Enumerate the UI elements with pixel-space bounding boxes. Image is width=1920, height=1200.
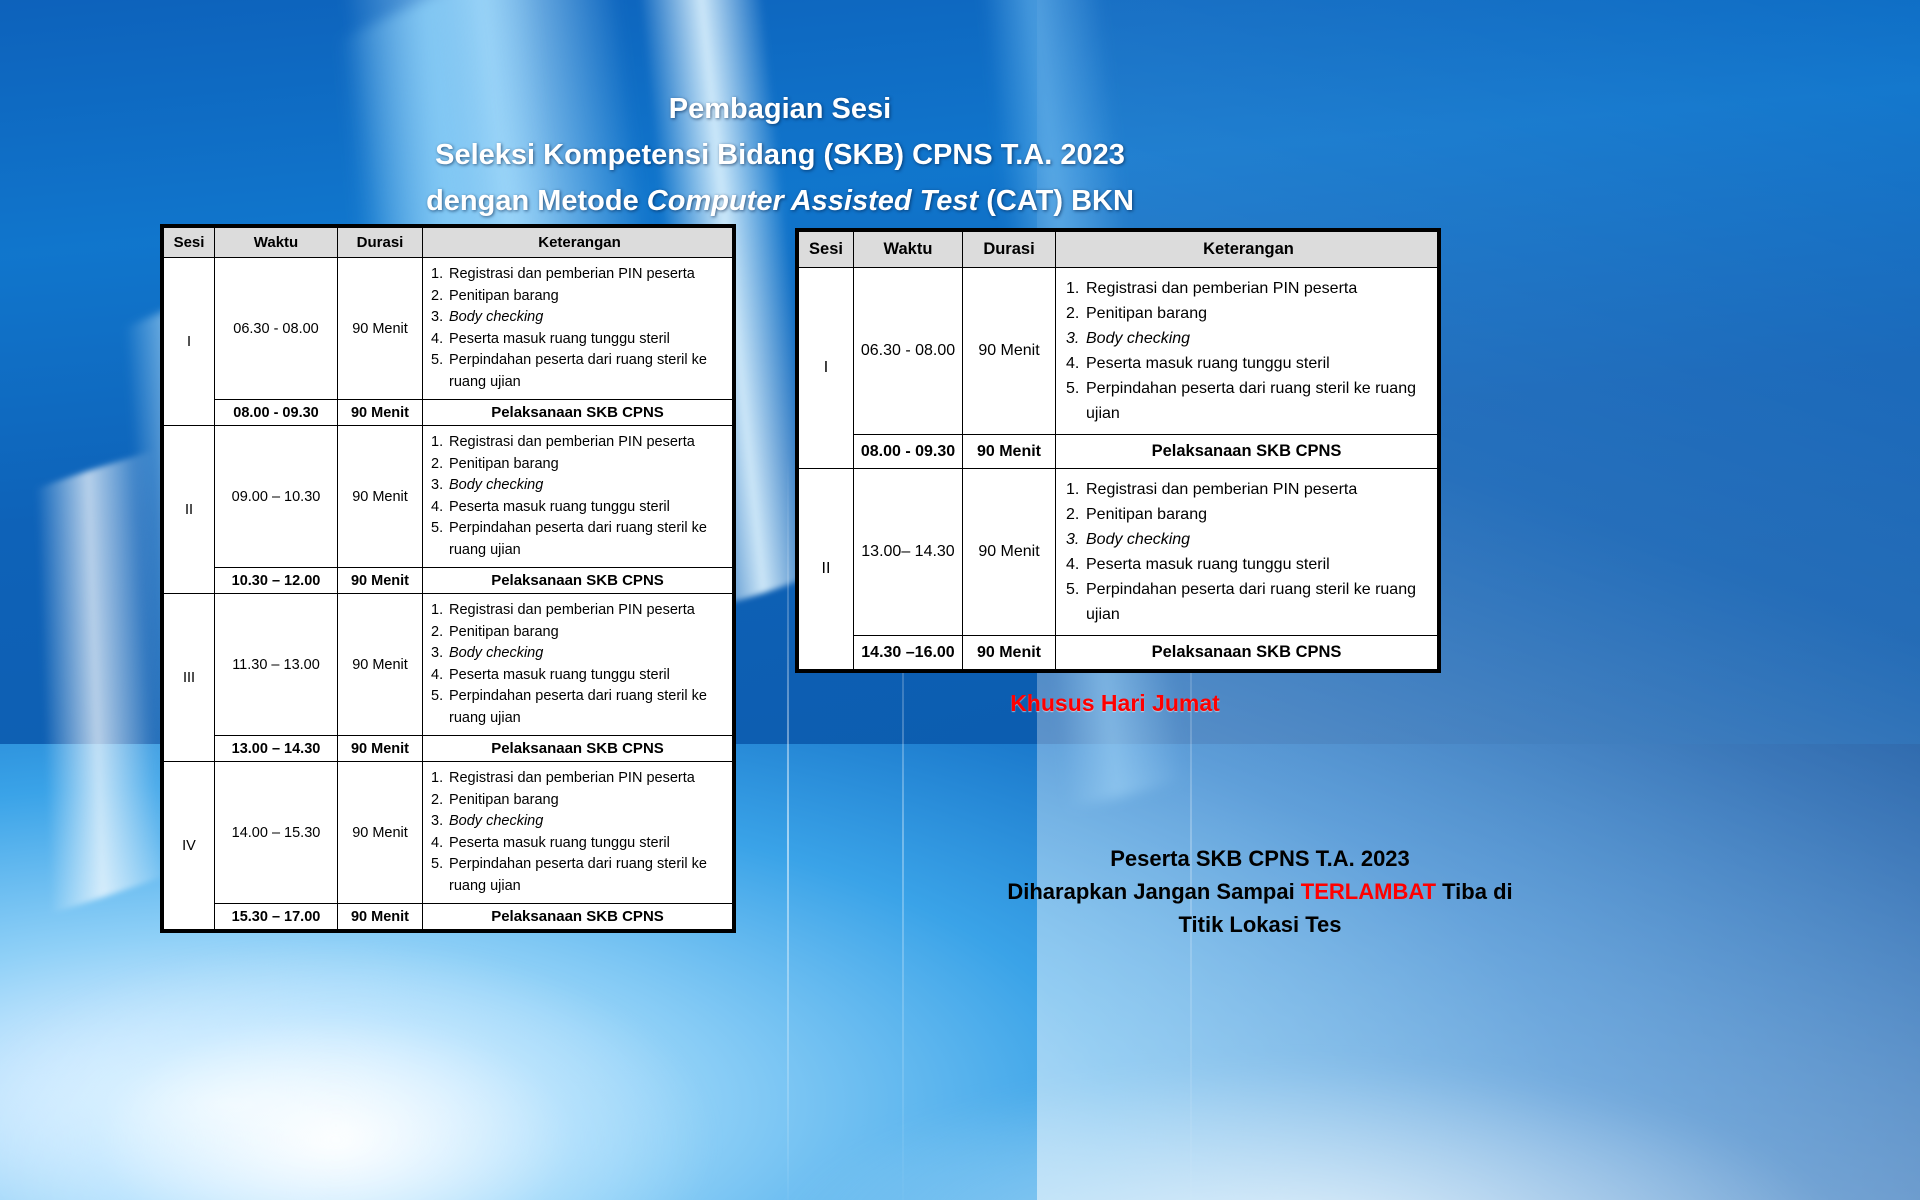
list-item: 3.Body checking xyxy=(1066,326,1431,351)
list-item: 2.Penitipan barang xyxy=(431,622,728,644)
list-number: 5. xyxy=(431,518,449,540)
list-number: 1. xyxy=(431,600,449,622)
table-body: I 06.30 - 08.00 90 Menit 1.Registrasi da… xyxy=(164,258,733,930)
cell-keterangan-prep: 1.Registrasi dan pemberian PIN peserta 2… xyxy=(423,762,733,904)
list-number: 3. xyxy=(1066,527,1086,552)
list-number: 2. xyxy=(431,622,449,644)
cell-pelaksanaan: Pelaksanaan SKB CPNS xyxy=(1056,435,1438,469)
cell-durasi-exam: 90 Menit xyxy=(338,400,423,426)
list-number: 4. xyxy=(1066,351,1086,376)
table-head: Sesi Waktu Durasi Keterangan xyxy=(164,228,733,258)
list-item: 1.Registrasi dan pemberian PIN peserta xyxy=(431,432,728,454)
list-item: 4.Peserta masuk ruang tunggu steril xyxy=(431,833,728,855)
list-item: 4.Peserta masuk ruang tunggu steril xyxy=(1066,351,1431,376)
list-item: 2.Penitipan barang xyxy=(1066,301,1431,326)
cell-waktu-exam: 14.30 –16.00 xyxy=(854,636,963,670)
title-line-3: dengan Metode Computer Assisted Test (CA… xyxy=(0,178,1560,224)
table-row: 08.00 - 09.30 90 Menit Pelaksanaan SKB C… xyxy=(799,435,1438,469)
list-item: 1.Registrasi dan pemberian PIN peserta xyxy=(431,264,728,286)
cell-durasi-exam: 90 Menit xyxy=(963,435,1056,469)
list-item: 4.Peserta masuk ruang tunggu steril xyxy=(431,329,728,351)
cell-keterangan-prep: 1.Registrasi dan pemberian PIN peserta 2… xyxy=(1056,469,1438,636)
list-item: 3.Body checking xyxy=(1066,527,1431,552)
list-item: 2.Penitipan barang xyxy=(431,286,728,308)
table-row: III 11.30 – 13.00 90 Menit 1.Registrasi … xyxy=(164,594,733,736)
list-text: Perpindahan peserta dari ruang steril ke… xyxy=(449,854,728,897)
list-item: 5.Perpindahan peserta dari ruang steril … xyxy=(431,518,728,561)
note-bottom-warning: Peserta SKB CPNS T.A. 2023 Diharapkan Ja… xyxy=(940,842,1580,941)
list-item: 5.Perpindahan peserta dari ruang steril … xyxy=(1066,376,1431,426)
cell-waktu-prep: 06.30 - 08.00 xyxy=(854,268,963,435)
list-text: Body checking xyxy=(449,307,728,329)
cell-durasi-prep: 90 Menit xyxy=(338,594,423,736)
title-line-3-prefix: dengan Metode xyxy=(426,185,647,217)
cell-durasi-exam: 90 Menit xyxy=(338,904,423,930)
cell-durasi-prep: 90 Menit xyxy=(963,268,1056,435)
list-number: 1. xyxy=(431,768,449,790)
cell-pelaksanaan: Pelaksanaan SKB CPNS xyxy=(1056,636,1438,670)
table-body: I 06.30 - 08.00 90 Menit 1.Registrasi da… xyxy=(799,268,1438,670)
title-line-2: Seleksi Kompetensi Bidang (SKB) CPNS T.A… xyxy=(0,132,1560,178)
title-line-3-italic: Computer Assisted Test xyxy=(647,185,978,217)
cell-pelaksanaan: Pelaksanaan SKB CPNS xyxy=(423,904,733,930)
list-text: Peserta masuk ruang tunggu steril xyxy=(449,833,728,855)
list-text: Penitipan barang xyxy=(1086,301,1431,326)
keterangan-list: 1.Registrasi dan pemberian PIN peserta 2… xyxy=(431,768,728,897)
cell-pelaksanaan: Pelaksanaan SKB CPNS xyxy=(423,736,733,762)
list-number: 4. xyxy=(431,665,449,687)
cell-sesi: IV xyxy=(164,762,215,930)
cell-sesi: III xyxy=(164,594,215,762)
list-item: 5.Perpindahan peserta dari ruang steril … xyxy=(1066,577,1431,627)
keterangan-list: 1.Registrasi dan pemberian PIN peserta 2… xyxy=(1066,276,1431,426)
list-number: 4. xyxy=(431,329,449,351)
list-text: Peserta masuk ruang tunggu steril xyxy=(449,497,728,519)
list-item: 3.Body checking xyxy=(431,811,728,833)
cell-keterangan-prep: 1.Registrasi dan pemberian PIN peserta 2… xyxy=(423,258,733,400)
list-text: Peserta masuk ruang tunggu steril xyxy=(1086,552,1431,577)
cell-sesi: I xyxy=(799,268,854,469)
list-number: 5. xyxy=(431,350,449,372)
list-item: 5.Perpindahan peserta dari ruang steril … xyxy=(431,350,728,393)
cell-pelaksanaan: Pelaksanaan SKB CPNS xyxy=(423,568,733,594)
cell-pelaksanaan: Pelaksanaan SKB CPNS xyxy=(423,400,733,426)
list-text: Penitipan barang xyxy=(449,286,728,308)
note-bottom-line-3: Titik Lokasi Tes xyxy=(940,908,1580,941)
list-number: 1. xyxy=(1066,477,1086,502)
list-text: Perpindahan peserta dari ruang steril ke… xyxy=(449,686,728,729)
cell-waktu-exam: 10.30 – 12.00 xyxy=(215,568,338,594)
note-bottom-line-2-prefix: Diharapkan Jangan Sampai xyxy=(1007,879,1300,904)
cell-waktu-prep: 13.00– 14.30 xyxy=(854,469,963,636)
cell-durasi-exam: 90 Menit xyxy=(338,568,423,594)
schedule-table-weekday: Sesi Waktu Durasi Keterangan I 06.30 - 0… xyxy=(160,224,736,933)
cell-sesi: II xyxy=(164,426,215,594)
list-text: Registrasi dan pemberian PIN peserta xyxy=(449,600,728,622)
column-header-sesi: Sesi xyxy=(799,232,854,268)
cell-durasi-prep: 90 Menit xyxy=(338,258,423,400)
keterangan-list: 1.Registrasi dan pemberian PIN peserta 2… xyxy=(1066,477,1431,627)
list-item: 1.Registrasi dan pemberian PIN peserta xyxy=(431,768,728,790)
list-text: Body checking xyxy=(1086,326,1431,351)
column-header-durasi: Durasi xyxy=(963,232,1056,268)
column-header-keterangan: Keterangan xyxy=(1056,232,1438,268)
list-text: Body checking xyxy=(1086,527,1431,552)
list-item: 2.Penitipan barang xyxy=(1066,502,1431,527)
cell-durasi-exam: 90 Menit xyxy=(963,636,1056,670)
list-item: 5.Perpindahan peserta dari ruang steril … xyxy=(431,854,728,897)
list-number: 2. xyxy=(431,790,449,812)
list-number: 5. xyxy=(1066,376,1086,401)
list-number: 3. xyxy=(431,811,449,833)
background-vertical-line-1 xyxy=(787,456,789,1200)
list-text: Body checking xyxy=(449,475,728,497)
list-text: Perpindahan peserta dari ruang steril ke… xyxy=(449,350,728,393)
title-line-3-suffix: (CAT) BKN xyxy=(978,185,1134,217)
cell-waktu-exam: 13.00 – 14.30 xyxy=(215,736,338,762)
column-header-waktu: Waktu xyxy=(215,228,338,258)
list-item: 4.Peserta masuk ruang tunggu steril xyxy=(431,497,728,519)
table-header-row: Sesi Waktu Durasi Keterangan xyxy=(164,228,733,258)
cell-waktu-exam: 08.00 - 09.30 xyxy=(215,400,338,426)
list-item: 3.Body checking xyxy=(431,475,728,497)
list-text: Registrasi dan pemberian PIN peserta xyxy=(449,432,728,454)
list-number: 3. xyxy=(431,475,449,497)
list-number: 4. xyxy=(431,833,449,855)
table-row: IV 14.00 – 15.30 90 Menit 1.Registrasi d… xyxy=(164,762,733,904)
cell-sesi: I xyxy=(164,258,215,426)
table-row: 15.30 – 17.00 90 Menit Pelaksanaan SKB C… xyxy=(164,904,733,930)
list-text: Perpindahan peserta dari ruang steril ke… xyxy=(1086,577,1431,627)
keterangan-list: 1.Registrasi dan pemberian PIN peserta 2… xyxy=(431,264,728,393)
list-text: Registrasi dan pemberian PIN peserta xyxy=(449,768,728,790)
column-header-durasi: Durasi xyxy=(338,228,423,258)
list-item: 1.Registrasi dan pemberian PIN peserta xyxy=(431,600,728,622)
cell-sesi: II xyxy=(799,469,854,670)
cell-durasi-exam: 90 Menit xyxy=(338,736,423,762)
keterangan-list: 1.Registrasi dan pemberian PIN peserta 2… xyxy=(431,432,728,561)
list-text: Body checking xyxy=(449,643,728,665)
cell-durasi-prep: 90 Menit xyxy=(338,426,423,568)
list-number: 3. xyxy=(431,307,449,329)
list-item: 5.Perpindahan peserta dari ruang steril … xyxy=(431,686,728,729)
table-row: II 09.00 – 10.30 90 Menit 1.Registrasi d… xyxy=(164,426,733,568)
list-number: 4. xyxy=(1066,552,1086,577)
note-bottom-highlight: TERLAMBAT xyxy=(1301,879,1436,904)
cell-waktu-prep: 11.30 – 13.00 xyxy=(215,594,338,736)
list-item: 1.Registrasi dan pemberian PIN peserta xyxy=(1066,477,1431,502)
slide-title: Pembagian Sesi Seleksi Kompetensi Bidang… xyxy=(0,86,1560,224)
list-number: 2. xyxy=(431,454,449,476)
cell-keterangan-prep: 1.Registrasi dan pemberian PIN peserta 2… xyxy=(423,426,733,568)
list-number: 1. xyxy=(1066,276,1086,301)
table-header-row: Sesi Waktu Durasi Keterangan xyxy=(799,232,1438,268)
table-row: 13.00 – 14.30 90 Menit Pelaksanaan SKB C… xyxy=(164,736,733,762)
list-text: Registrasi dan pemberian PIN peserta xyxy=(1086,477,1431,502)
table-row: I 06.30 - 08.00 90 Menit 1.Registrasi da… xyxy=(799,268,1438,435)
table-row: 14.30 –16.00 90 Menit Pelaksanaan SKB CP… xyxy=(799,636,1438,670)
cell-keterangan-prep: 1.Registrasi dan pemberian PIN peserta 2… xyxy=(423,594,733,736)
list-text: Peserta masuk ruang tunggu steril xyxy=(449,329,728,351)
keterangan-list: 1.Registrasi dan pemberian PIN peserta 2… xyxy=(431,600,728,729)
list-text: Body checking xyxy=(449,811,728,833)
cell-waktu-prep: 06.30 - 08.00 xyxy=(215,258,338,400)
table-row: 10.30 – 12.00 90 Menit Pelaksanaan SKB C… xyxy=(164,568,733,594)
column-header-waktu: Waktu xyxy=(854,232,963,268)
cell-durasi-prep: 90 Menit xyxy=(963,469,1056,636)
list-item: 1.Registrasi dan pemberian PIN peserta xyxy=(1066,276,1431,301)
list-text: Penitipan barang xyxy=(1086,502,1431,527)
table-row: II 13.00– 14.30 90 Menit 1.Registrasi da… xyxy=(799,469,1438,636)
cell-keterangan-prep: 1.Registrasi dan pemberian PIN peserta 2… xyxy=(1056,268,1438,435)
note-bottom-line-1: Peserta SKB CPNS T.A. 2023 xyxy=(940,842,1580,875)
list-text: Penitipan barang xyxy=(449,622,728,644)
list-text: Registrasi dan pemberian PIN peserta xyxy=(449,264,728,286)
table-weekday: Sesi Waktu Durasi Keterangan I 06.30 - 0… xyxy=(163,227,733,930)
list-number: 3. xyxy=(431,643,449,665)
table-friday: Sesi Waktu Durasi Keterangan I 06.30 - 0… xyxy=(798,231,1438,670)
schedule-table-friday: Sesi Waktu Durasi Keterangan I 06.30 - 0… xyxy=(795,228,1441,673)
list-number: 1. xyxy=(431,264,449,286)
list-item: 4.Peserta masuk ruang tunggu steril xyxy=(1066,552,1431,577)
list-number: 1. xyxy=(431,432,449,454)
table-head: Sesi Waktu Durasi Keterangan xyxy=(799,232,1438,268)
list-text: Perpindahan peserta dari ruang steril ke… xyxy=(1086,376,1431,426)
list-number: 2. xyxy=(1066,301,1086,326)
list-number: 4. xyxy=(431,497,449,519)
list-text: Penitipan barang xyxy=(449,454,728,476)
list-text: Peserta masuk ruang tunggu steril xyxy=(449,665,728,687)
list-number: 5. xyxy=(431,854,449,876)
list-item: 4.Peserta masuk ruang tunggu steril xyxy=(431,665,728,687)
column-header-keterangan: Keterangan xyxy=(423,228,733,258)
table-row: 08.00 - 09.30 90 Menit Pelaksanaan SKB C… xyxy=(164,400,733,426)
list-text: Penitipan barang xyxy=(449,790,728,812)
title-line-1: Pembagian Sesi xyxy=(0,86,1560,132)
list-number: 5. xyxy=(431,686,449,708)
list-text: Peserta masuk ruang tunggu steril xyxy=(1086,351,1431,376)
cell-waktu-exam: 08.00 - 09.30 xyxy=(854,435,963,469)
cell-waktu-prep: 14.00 – 15.30 xyxy=(215,762,338,904)
list-item: 2.Penitipan barang xyxy=(431,790,728,812)
list-item: 3.Body checking xyxy=(431,307,728,329)
cell-durasi-prep: 90 Menit xyxy=(338,762,423,904)
list-number: 2. xyxy=(431,286,449,308)
list-number: 2. xyxy=(1066,502,1086,527)
cell-waktu-exam: 15.30 – 17.00 xyxy=(215,904,338,930)
list-text: Perpindahan peserta dari ruang steril ke… xyxy=(449,518,728,561)
column-header-sesi: Sesi xyxy=(164,228,215,258)
list-number: 5. xyxy=(1066,577,1086,602)
list-text: Registrasi dan pemberian PIN peserta xyxy=(1086,276,1431,301)
table-row: I 06.30 - 08.00 90 Menit 1.Registrasi da… xyxy=(164,258,733,400)
list-number: 3. xyxy=(1066,326,1086,351)
note-bottom-line-2-suffix: Tiba di xyxy=(1436,879,1513,904)
note-bottom-line-2: Diharapkan Jangan Sampai TERLAMBAT Tiba … xyxy=(940,875,1580,908)
cell-waktu-prep: 09.00 – 10.30 xyxy=(215,426,338,568)
note-khusus-hari-jumat: Khusus Hari Jumat xyxy=(795,690,1435,717)
list-item: 3.Body checking xyxy=(431,643,728,665)
list-item: 2.Penitipan barang xyxy=(431,454,728,476)
